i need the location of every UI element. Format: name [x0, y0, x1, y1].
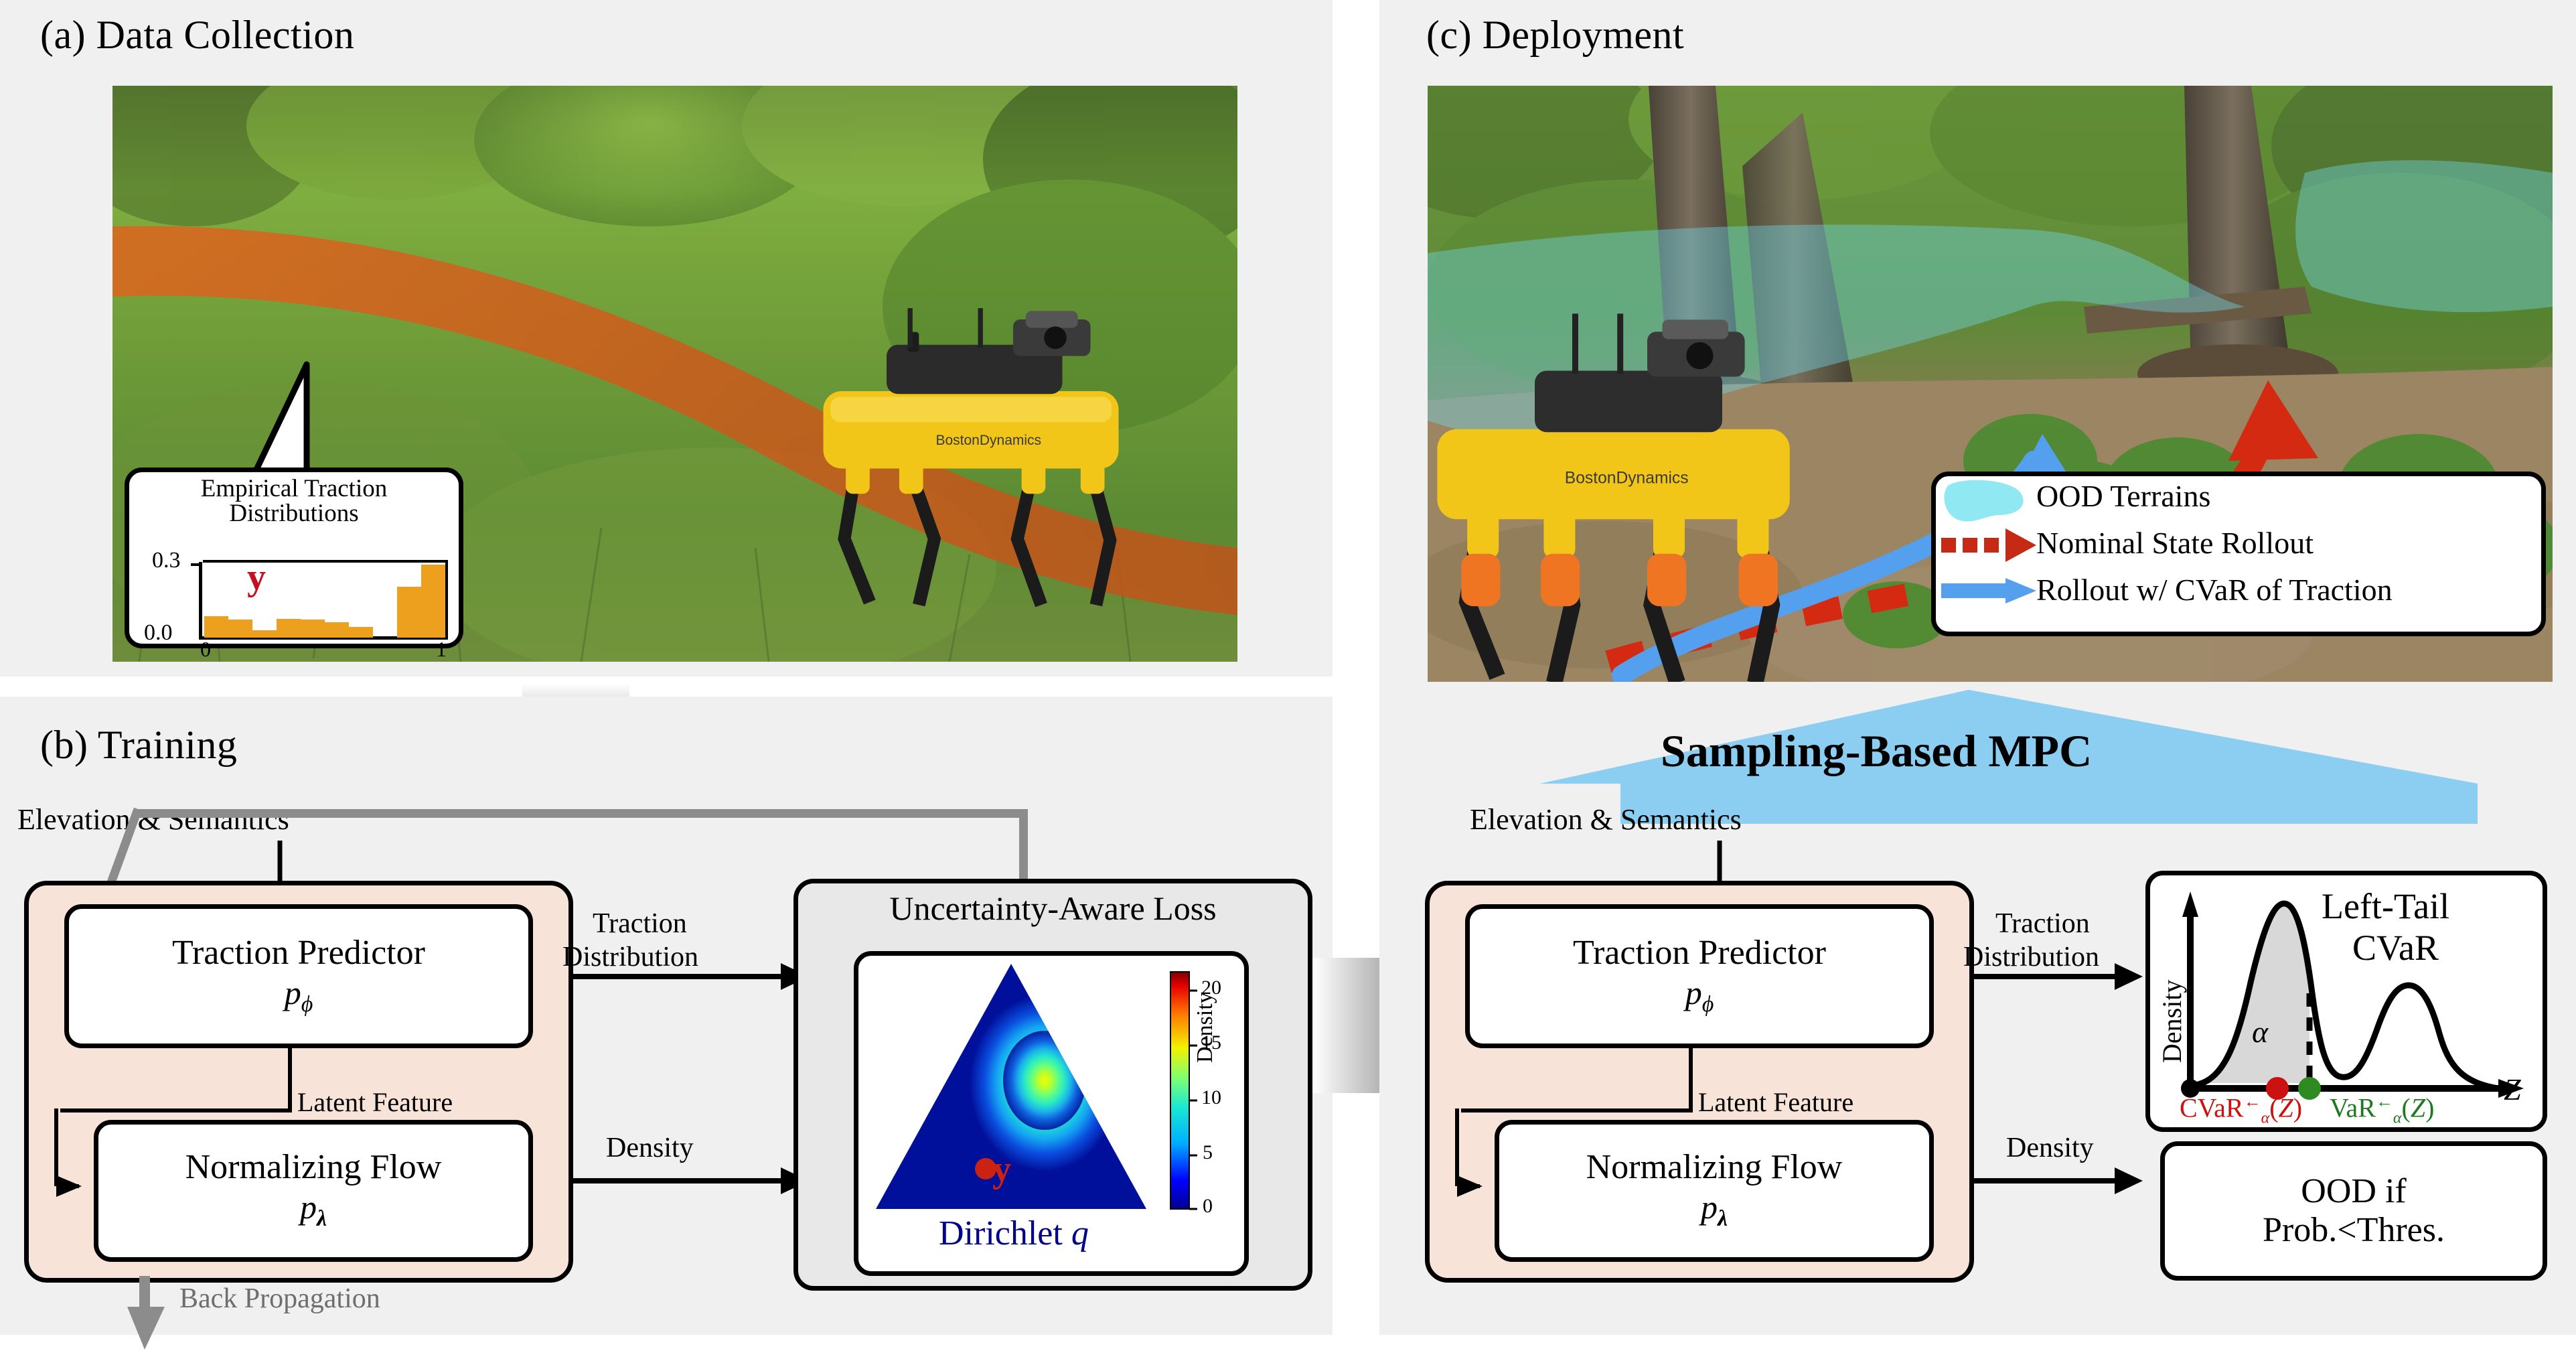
dirichlet-colorbar-tick-0: 0: [1203, 1196, 1213, 1217]
normalizing-flow-symbol-c: pλ: [1701, 1188, 1728, 1232]
latent-feature-label-b: Latent Feature: [297, 1086, 453, 1118]
callout-title-line1: Empirical Traction: [129, 472, 459, 501]
latent-line-left-b: [60, 1108, 292, 1113]
density-arrow-b: [573, 1169, 814, 1196]
histogram-bar: [301, 620, 325, 638]
legend-label-ood: OOD Terrains: [2036, 480, 2210, 512]
cvar-xlabel: Z: [2504, 1074, 2521, 1106]
histogram-bar: [397, 587, 421, 638]
empirical-traction-callout: Empirical Traction Distributions 0.3 0.0…: [125, 468, 463, 648]
histogram-bar: [252, 630, 277, 638]
panel-a-title: (a) Data Collection: [40, 12, 354, 58]
blue-solid-arrow-icon: [1941, 578, 2036, 603]
dirichlet-caption: Dirichlet q: [939, 1216, 1089, 1252]
traction-predictor-symbol-b: pϕ: [285, 973, 313, 1017]
cvar-axis-label-green: VaR←α(Z): [2330, 1092, 2434, 1127]
panel-c-title: (c) Deployment: [1426, 12, 1684, 58]
traction-distribution-arrow-c: [1974, 964, 2148, 991]
hist-ytick-top: [191, 563, 200, 566]
traction-predictor-box-c[interactable]: Traction Predictor pϕ: [1465, 904, 1934, 1048]
left-tail-cvar-box: Left-Tail CVaR Density α Z CVaR←α(Z) VaR…: [2145, 871, 2547, 1132]
cvar-title-line2: CVaR: [2352, 929, 2439, 967]
hist-frame-right: [445, 560, 448, 639]
histogram-bar: [349, 627, 373, 638]
back-propagation-label: Back Propagation: [179, 1283, 380, 1315]
traction-distribution-label-b-l1: Traction: [593, 908, 687, 940]
ood-rule-box: OOD if Prob.<Thres.: [2160, 1141, 2547, 1281]
hist-y-axis: [199, 562, 202, 638]
legend-label-nominal: Nominal State Rollout: [2036, 527, 2314, 559]
hist-ytick-label-top: 0.3: [152, 549, 181, 573]
ood-rule-line2: Prob.<Thres.: [2263, 1211, 2445, 1250]
hist-ytick-label-bottom: 0.0: [144, 621, 173, 645]
cvar-alpha-label: α: [2252, 1016, 2268, 1048]
normalizing-flow-label-b: Normalizing Flow: [185, 1150, 442, 1185]
cvar-title-line1: Left-Tail: [2322, 887, 2449, 926]
density-label-b: Density: [606, 1132, 694, 1164]
backprop-connector-top-b: [134, 809, 1028, 818]
red-dashed-arrow-icon: [1941, 528, 2036, 562]
dirichlet-plot-box: 20 15 10 5 0 Density y Dirichlet q: [854, 951, 1249, 1276]
traction-distribution-arrow-b: [573, 964, 814, 991]
ood-blob-icon: [1944, 480, 2023, 522]
ood-rule-line1: OOD if: [2301, 1172, 2406, 1211]
panel-c-input-label: Elevation & Semantics: [1470, 802, 1742, 837]
backprop-connector-right-b: [1019, 809, 1028, 883]
histogram-bar: [325, 622, 349, 638]
deployment-legend: OOD Terrains Nominal State Rollout Rollo…: [1931, 472, 2546, 636]
traction-predictor-symbol-c: pϕ: [1685, 973, 1714, 1017]
normalizing-flow-label-c: Normalizing Flow: [1586, 1150, 1843, 1185]
panel-b-title: (b) Training: [40, 722, 237, 768]
histogram-bar: [277, 619, 301, 638]
mpc-banner-label: Sampling-Based MPC: [1661, 727, 2092, 775]
traction-predictor-box-b[interactable]: Traction Predictor pϕ: [64, 904, 533, 1048]
cvar-ylabel: Density: [2158, 980, 2186, 1063]
normalizing-flow-box-b[interactable]: Normalizing Flow pλ: [94, 1120, 533, 1262]
dirichlet-colorbar-label: Density: [1193, 992, 1217, 1063]
callout-title-line2: Distributions: [129, 501, 459, 526]
latent-line-down-c: [1689, 1048, 1693, 1113]
latent-line-down-b: [288, 1048, 292, 1113]
histogram-bar: [204, 616, 228, 638]
deployment-photo: BostonDynamics OOD Terrains Nominal Stat…: [1428, 86, 2553, 682]
svg-text:BostonDynamics: BostonDynamics: [1565, 469, 1689, 487]
histogram-bars: [204, 561, 445, 638]
data-collection-photo: BostonDynamics Empirical Traction Distri…: [112, 86, 1237, 662]
dirichlet-colorbar-tick-5: 5: [1203, 1142, 1213, 1163]
hist-xtick-label-right: 1: [436, 638, 447, 661]
density-label-c: Density: [2006, 1132, 2094, 1164]
legend-label-cvar: Rollout w/ CVaR of Traction: [2036, 574, 2393, 606]
cvar-axis-label-red: CVaR←α(Z): [2180, 1092, 2302, 1127]
normalizing-flow-box-c[interactable]: Normalizing Flow pλ: [1495, 1120, 1934, 1262]
traction-distribution-label-c-l1: Traction: [1995, 908, 2090, 940]
density-arrow-c: [1974, 1169, 2148, 1196]
latent-arrow-b: [52, 1108, 92, 1216]
hist-xtick-label-left: 0: [200, 638, 211, 661]
histogram-bar: [228, 620, 252, 638]
traction-predictor-label-b: Traction Predictor: [172, 936, 425, 971]
dirichlet-colorbar-tick-10: 10: [1201, 1087, 1221, 1108]
uncertainty-aware-loss-title: Uncertainty-Aware Loss: [807, 891, 1299, 926]
histogram-bar: [421, 565, 445, 638]
traction-predictor-label-c: Traction Predictor: [1573, 936, 1826, 971]
dirichlet-observation-label: y: [992, 1150, 1011, 1190]
svg-text:BostonDynamics: BostonDynamics: [936, 433, 1042, 448]
latent-arrow-c: [1453, 1108, 1493, 1216]
latent-line-left-c: [1461, 1108, 1693, 1113]
latent-feature-label-c: Latent Feature: [1698, 1086, 1853, 1118]
hist-y-annotation: y: [247, 558, 266, 597]
normalizing-flow-symbol-b: pλ: [300, 1188, 327, 1232]
